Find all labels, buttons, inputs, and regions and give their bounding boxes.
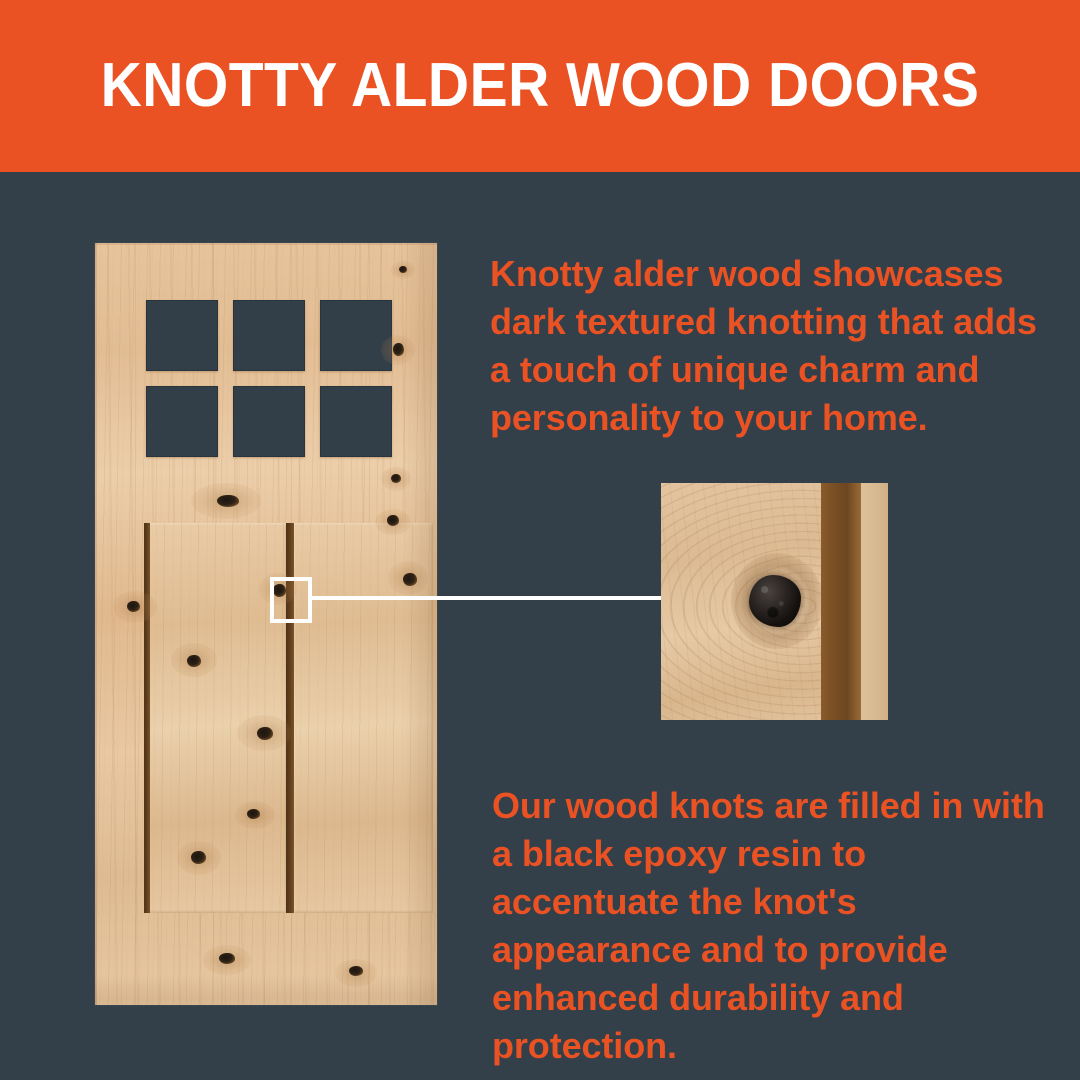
door-lite-r1c2 [233, 300, 305, 371]
door-lite-r2c2 [233, 386, 305, 457]
door-product-image [95, 243, 437, 1005]
door-knot-4 [403, 573, 417, 586]
detail-groove-strip [821, 483, 861, 720]
door-knot-3 [217, 495, 239, 507]
paragraph-knotty-alder-description: Knotty alder wood showcases dark texture… [490, 250, 1050, 442]
door-knot-7 [257, 727, 273, 740]
door-knot-1 [393, 343, 404, 356]
detail-edge-strip [861, 483, 888, 720]
knot-highlight-box [270, 577, 312, 623]
door-knot-11 [349, 966, 363, 976]
door-knot-13 [247, 809, 260, 819]
door-lite-r2c1 [146, 386, 218, 457]
door-lite-r1c3 [320, 300, 392, 371]
door-knot-6 [187, 655, 201, 667]
door-knot-12 [391, 474, 401, 483]
callout-connector-line [312, 596, 661, 600]
door-knot-8 [387, 515, 399, 526]
door-knot-2 [399, 266, 407, 273]
door-lite-r1c1 [146, 300, 218, 371]
paragraph-epoxy-resin-description: Our wood knots are filled in with a blac… [492, 782, 1052, 1070]
door-knot-10 [219, 953, 235, 964]
page-title: KNOTTY ALDER WOOD DOORS [43, 0, 1037, 172]
door-panel-groove-left [144, 523, 150, 913]
door-lite-r2c3 [320, 386, 392, 457]
door-knot-5 [127, 601, 140, 612]
door-knot-9 [191, 851, 206, 864]
header-band: KNOTTY ALDER WOOD DOORS [0, 0, 1080, 172]
knot-detail-image [661, 483, 888, 720]
black-epoxy-knot [749, 575, 801, 627]
